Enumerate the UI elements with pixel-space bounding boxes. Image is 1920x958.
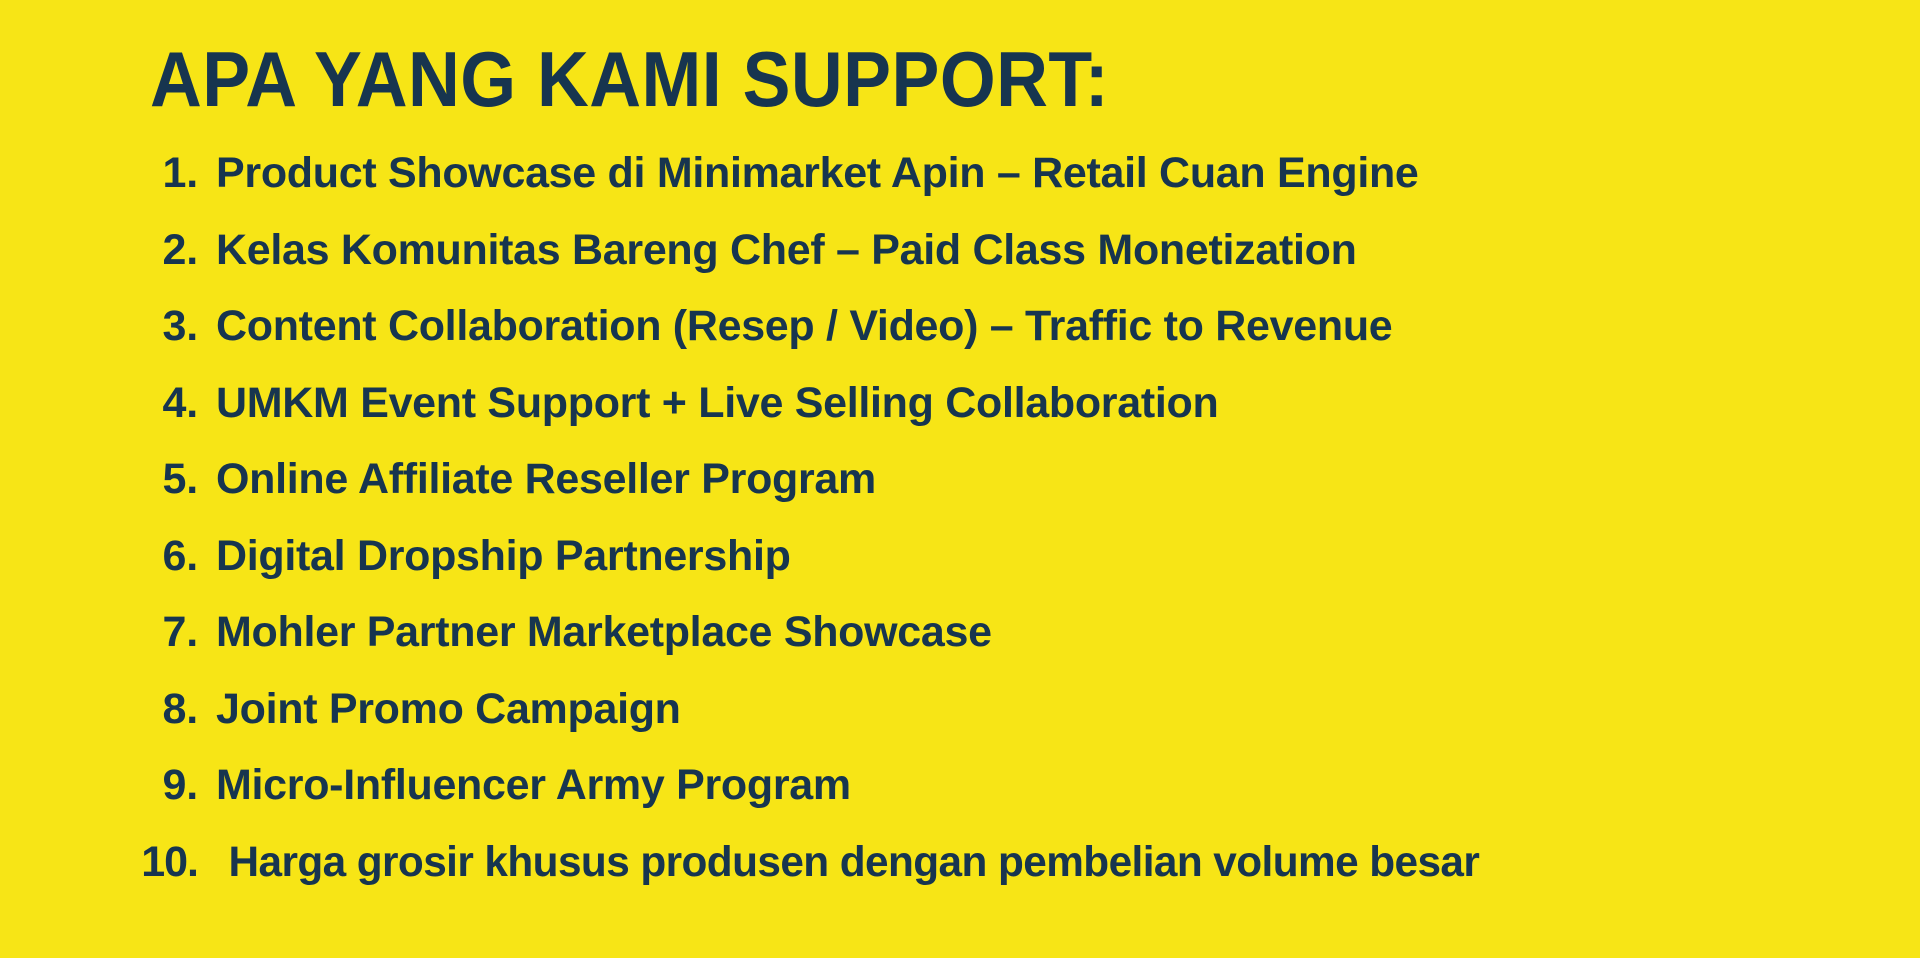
list-item-number: 7.: [120, 611, 216, 654]
list-item-label: UMKM Event Support + Live Selling Collab…: [216, 382, 1880, 425]
list-item: 3. Content Collaboration (Resep / Video)…: [120, 305, 1880, 382]
list-item-label: Mohler Partner Marketplace Showcase: [216, 611, 1880, 654]
list-item: 4. UMKM Event Support + Live Selling Col…: [120, 382, 1880, 459]
list-item-number: 2.: [120, 229, 216, 272]
list-item: 8. Joint Promo Campaign: [120, 688, 1880, 765]
list-item-number: 8.: [120, 688, 216, 731]
list-item-number: 9.: [120, 764, 216, 807]
list-item: 10. Harga grosir khusus produsen dengan …: [120, 841, 1880, 918]
list-item-label: Content Collaboration (Resep / Video) – …: [216, 305, 1880, 348]
page-title: APA YANG KAMI SUPPORT:: [150, 42, 1714, 117]
list-item-label: Harga grosir khusus produsen dengan pemb…: [228, 841, 1867, 884]
list-item-label: Kelas Komunitas Bareng Chef – Paid Class…: [216, 229, 1880, 272]
support-list: 1. Product Showcase di Minimarket Apin –…: [120, 152, 1880, 917]
list-item: 1. Product Showcase di Minimarket Apin –…: [120, 152, 1880, 229]
list-item-number: 6.: [120, 535, 216, 578]
title-block: APA YANG KAMI SUPPORT:: [150, 42, 1850, 117]
list-item-label: Product Showcase di Minimarket Apin – Re…: [216, 152, 1880, 195]
list-item: 7. Mohler Partner Marketplace Showcase: [120, 611, 1880, 688]
list-item-number: 10.: [120, 841, 216, 884]
list-item: 6. Digital Dropship Partnership: [120, 535, 1880, 612]
list-item: 2. Kelas Komunitas Bareng Chef – Paid Cl…: [120, 229, 1880, 306]
list-item-label: Micro-Influencer Army Program: [216, 764, 1880, 807]
list-item: 5. Online Affiliate Reseller Program: [120, 458, 1880, 535]
list-item-label: Digital Dropship Partnership: [216, 535, 1880, 578]
list-item-label: Joint Promo Campaign: [216, 688, 1880, 731]
list-item-number: 5.: [120, 458, 216, 501]
list-item-number: 4.: [120, 382, 216, 425]
list-item-number: 3.: [120, 305, 216, 348]
slide-canvas: APA YANG KAMI SUPPORT: 1. Product Showca…: [0, 0, 1920, 958]
list-item-label: Online Affiliate Reseller Program: [216, 458, 1880, 501]
list-item-number: 1.: [120, 152, 216, 195]
list-item: 9. Micro-Influencer Army Program: [120, 764, 1880, 841]
